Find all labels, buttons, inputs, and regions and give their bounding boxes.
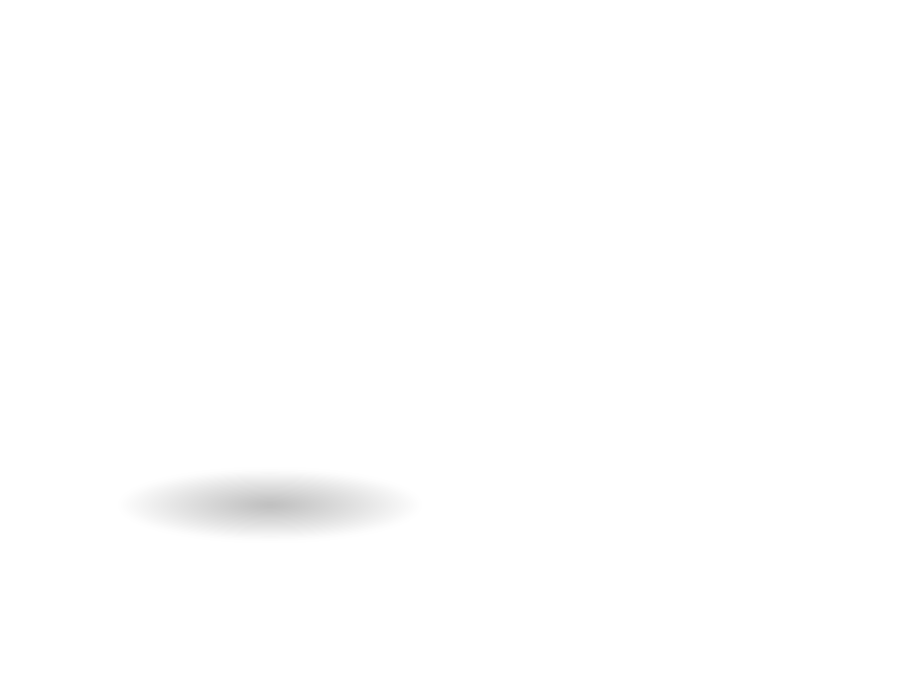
layer-legend [552, 84, 900, 206]
mattress-layers-infographic [0, 0, 900, 675]
diagram-drop-shadow [120, 470, 420, 540]
mattress-exploded-diagram [0, 0, 520, 675]
